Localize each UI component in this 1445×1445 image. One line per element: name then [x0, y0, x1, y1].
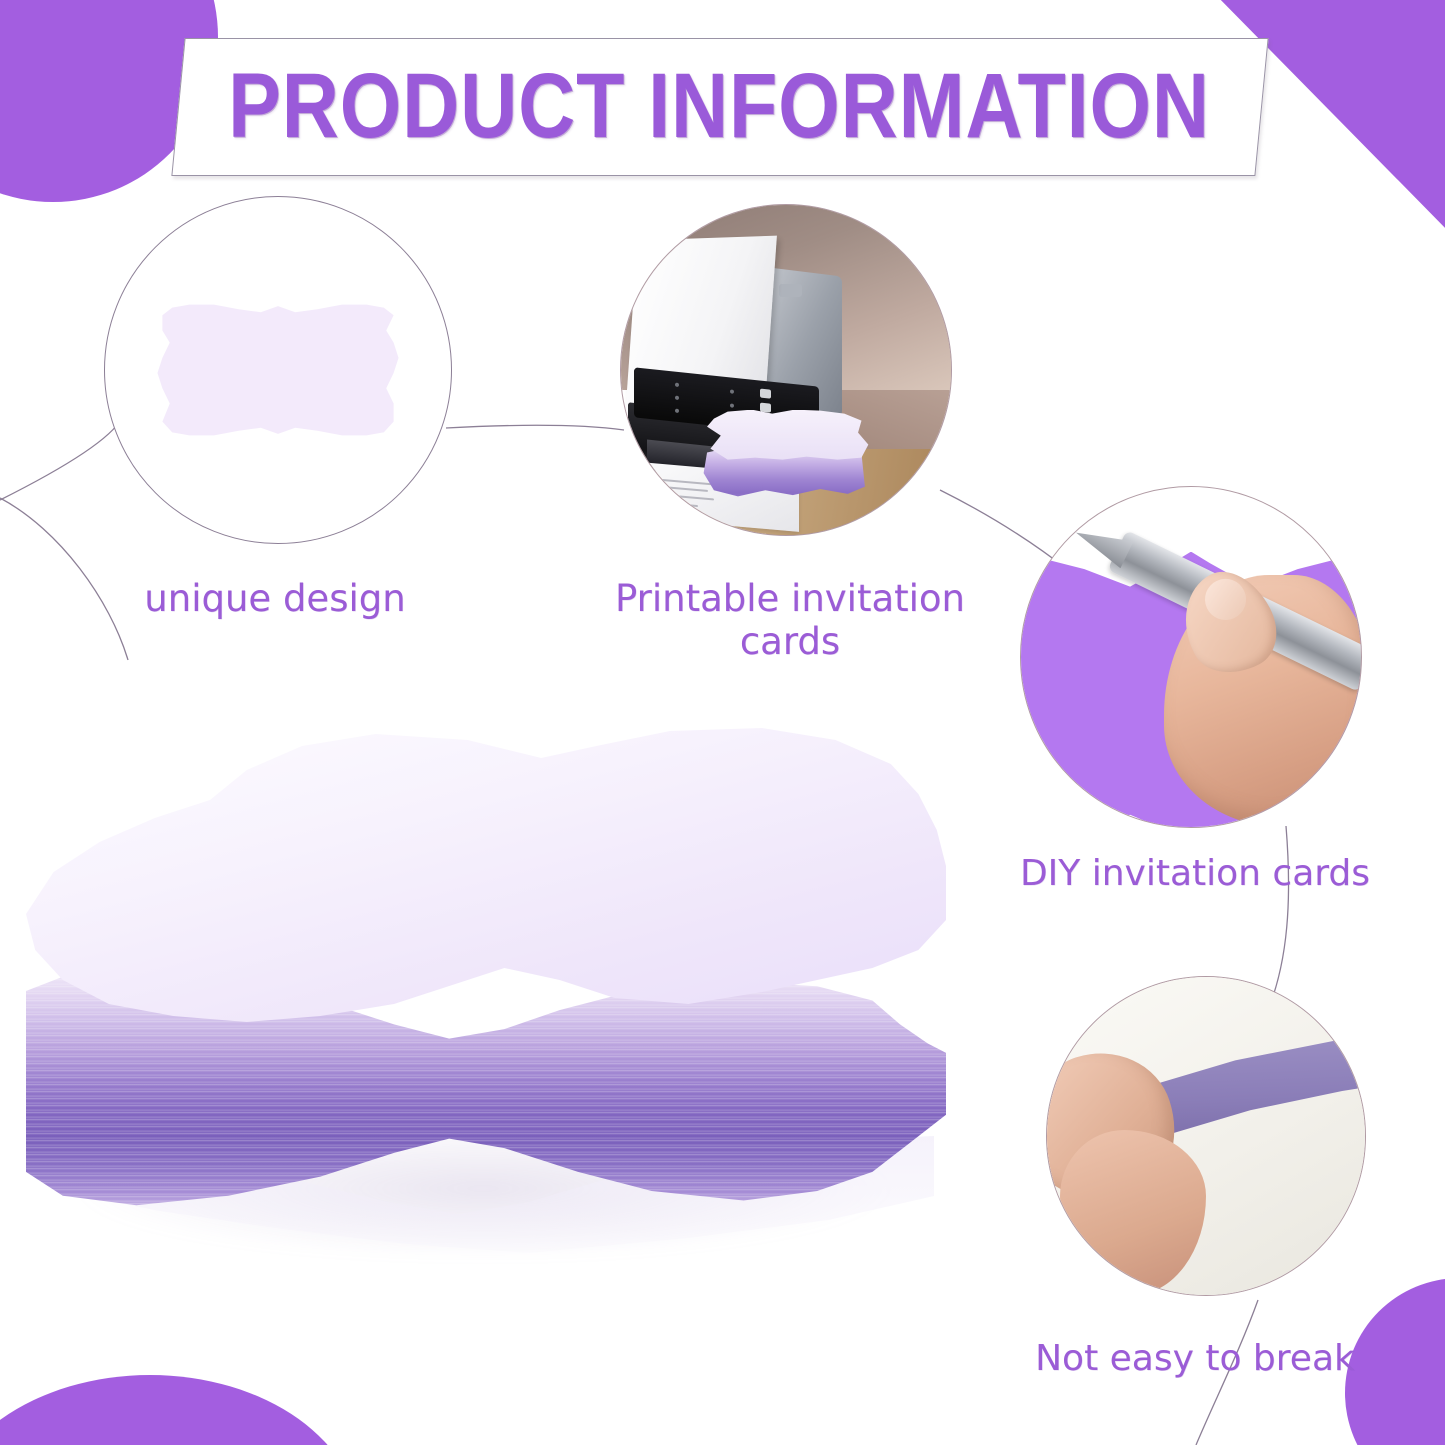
feature-label-diy-invitation-cards: DIY invitation cards — [960, 853, 1430, 895]
connector-line-left-edge — [0, 418, 122, 500]
feature-label-line-1: Printable invitation — [570, 578, 1010, 621]
feature-circle-printable-invitation-cards — [620, 204, 952, 536]
feature-circle-diy-invitation-cards — [1020, 486, 1362, 828]
feature-label-unique-design: unique design — [40, 578, 510, 621]
feature-circle-not-easy-to-break — [1046, 976, 1366, 1296]
connector-line-c2-to-c3 — [940, 490, 1068, 570]
card-stack-top-face — [26, 728, 946, 1028]
feature-label-line-2: cards — [570, 621, 1010, 664]
mini-card-stack — [700, 410, 872, 519]
feature-label-not-easy-to-break: Not easy to break — [960, 1338, 1430, 1380]
connector-line-c1-to-c2 — [446, 425, 624, 430]
printer-lid-tab — [779, 284, 802, 297]
hero-product-image — [8, 700, 968, 1320]
printer-photo — [621, 205, 951, 535]
feature-label-printable-invitation-cards: Printable invitation cards — [570, 578, 1010, 664]
infographic-canvas: PRODUCT INFORMATION unique design — [0, 0, 1445, 1445]
ornate-card-silhouette-icon — [155, 294, 401, 446]
page-title: PRODUCT INFORMATION — [254, 38, 1185, 174]
feature-circle-unique-design — [104, 196, 452, 544]
mini-card-stack-top — [700, 410, 872, 460]
decoration-blob-bottom-left — [0, 1375, 360, 1445]
card-stack — [8, 700, 968, 1260]
